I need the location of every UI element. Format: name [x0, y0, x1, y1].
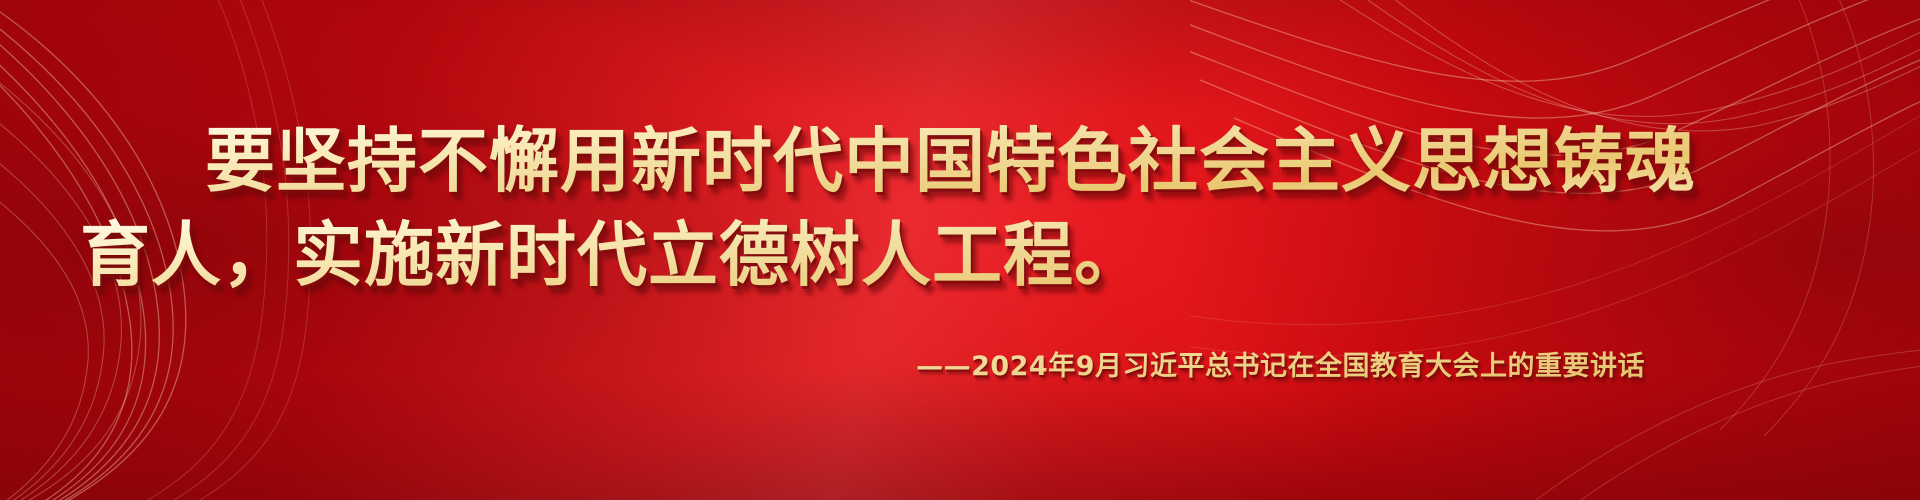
- propaganda-banner: 要坚持不懈用新时代中国特色社会主义思想铸魂 育人，实施新时代立德树人工程。 ——…: [0, 0, 1920, 500]
- attribution-source: ——2024年9月习近平总书记在全国教育大会上的重要讲话: [60, 344, 1860, 383]
- headline-line-1: 要坚持不懈用新时代中国特色社会主义思想铸魂: [60, 117, 1860, 207]
- banner-content: 要坚持不懈用新时代中国特色社会主义思想铸魂 育人，实施新时代立德树人工程。 ——…: [0, 0, 1920, 500]
- headline-line-2: 育人，实施新时代立德树人工程。: [60, 211, 1860, 301]
